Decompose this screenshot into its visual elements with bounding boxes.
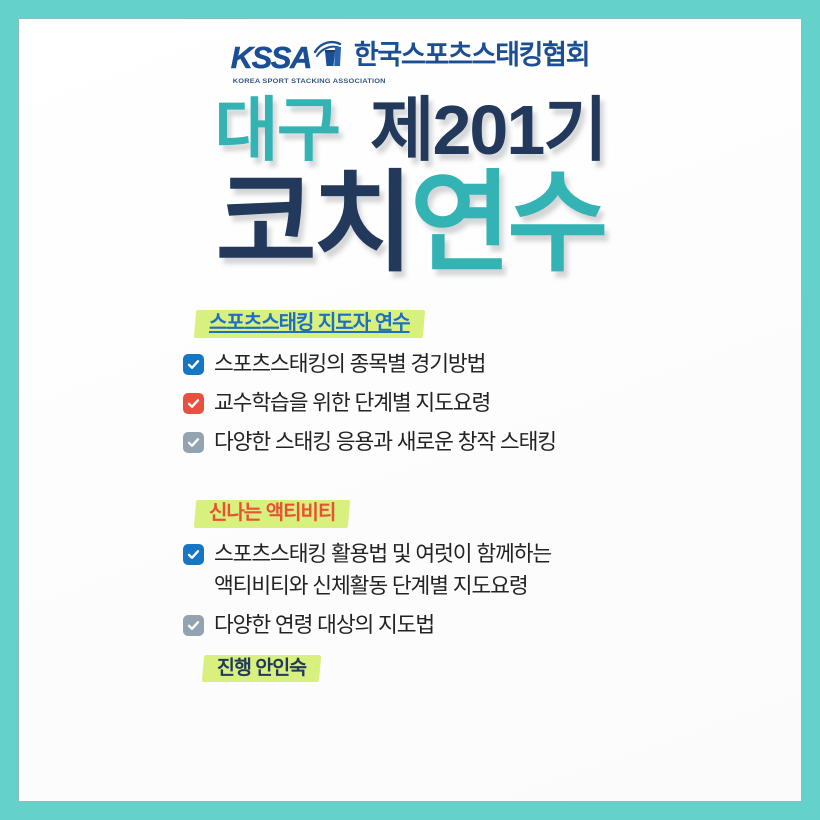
checkbox-checked-icon	[183, 615, 204, 636]
kssa-wordmark: KSSA	[231, 42, 311, 73]
title-region: 대구	[214, 95, 339, 165]
title-line-main: 코치연수	[19, 169, 801, 279]
title-main-second: 연수	[410, 169, 604, 279]
list-item: 스포츠스태킹의 종목별 경기방법	[19, 349, 801, 381]
list-item: 스포츠스태킹 활용법 및 여럿이 함께하는 액티비티와 신체활동 단계별 지도요…	[19, 539, 801, 603]
checkbox-checked-icon	[183, 393, 204, 414]
kssa-logo: KSSA KOREA SPORT STACKING ASSOCIATION	[231, 37, 343, 73]
curriculum-content: 스포츠스태킹 지도자 연수 스포츠스태킹의 종목별 경기방법 교	[19, 309, 801, 683]
checkbox-checked-icon	[183, 544, 204, 565]
list-item: 다양한 연령 대상의 지도법	[19, 610, 801, 642]
list-item-line1: 스포츠스태킹의 종목별 경기방법	[214, 352, 485, 376]
instructor-badge-label: 진행 안인숙	[217, 657, 306, 679]
list-item-line1: 다양한 스태킹 응용과 새로운 창작 스태킹	[214, 430, 556, 454]
poster-card: KSSA KOREA SPORT STACKING ASSOCIATION 한국…	[18, 18, 802, 802]
section-heading-2-label: 신나는 액티비티	[209, 502, 335, 524]
poster-frame: KSSA KOREA SPORT STACKING ASSOCIATION 한국…	[0, 0, 820, 820]
checkbox-checked-icon	[183, 354, 204, 375]
list-item-text: 다양한 스태킹 응용과 새로운 창작 스태킹	[214, 427, 556, 459]
association-name: 한국스포츠스태킹협회	[354, 42, 589, 69]
stacking-cups-icon	[313, 37, 343, 72]
list-item: 다양한 스태킹 응용과 새로운 창작 스태킹	[19, 427, 801, 459]
title-line-region-term: 대구 제201기	[19, 95, 801, 165]
list-item-line1: 다양한 연령 대상의 지도법	[214, 613, 434, 637]
list-item: 교수학습을 위한 단계별 지도요령	[19, 388, 801, 420]
section-1-list: 스포츠스태킹의 종목별 경기방법 교수학습을 위한 단계별 지도요령	[19, 349, 801, 458]
section-heading-1: 스포츠스태킹 지도자 연수	[195, 309, 424, 339]
title-term: 제201기	[370, 95, 606, 165]
title-main-first: 코치	[216, 169, 410, 279]
association-header: KSSA KOREA SPORT STACKING ASSOCIATION 한국…	[19, 19, 801, 73]
instructor-badge: 진행 안인숙	[203, 654, 320, 683]
list-item-line2: 액티비티와 신체활동 단계별 지도요령	[214, 571, 551, 603]
list-item-line1: 교수학습을 위한 단계별 지도요령	[214, 391, 490, 415]
instructor-badge-wrap: 진행 안인숙	[19, 654, 801, 683]
list-item-text: 다양한 연령 대상의 지도법	[214, 610, 434, 642]
list-item-text: 교수학습을 위한 단계별 지도요령	[214, 388, 490, 420]
kssa-logo-subtitle: KOREA SPORT STACKING ASSOCIATION	[233, 76, 386, 84]
checkbox-checked-icon	[183, 432, 204, 453]
list-item-line1: 스포츠스태킹 활용법 및 여럿이 함께하는	[214, 542, 551, 566]
section-gap	[19, 465, 801, 499]
list-item-text: 스포츠스태킹 활용법 및 여럿이 함께하는 액티비티와 신체활동 단계별 지도요…	[214, 539, 551, 603]
section-heading-1-label: 스포츠스태킹 지도자 연수	[209, 312, 410, 334]
list-item-text: 스포츠스태킹의 종목별 경기방법	[214, 349, 485, 381]
section-heading-2: 신나는 액티비티	[195, 499, 349, 529]
section-2-list: 스포츠스태킹 활용법 및 여럿이 함께하는 액티비티와 신체활동 단계별 지도요…	[19, 539, 801, 641]
